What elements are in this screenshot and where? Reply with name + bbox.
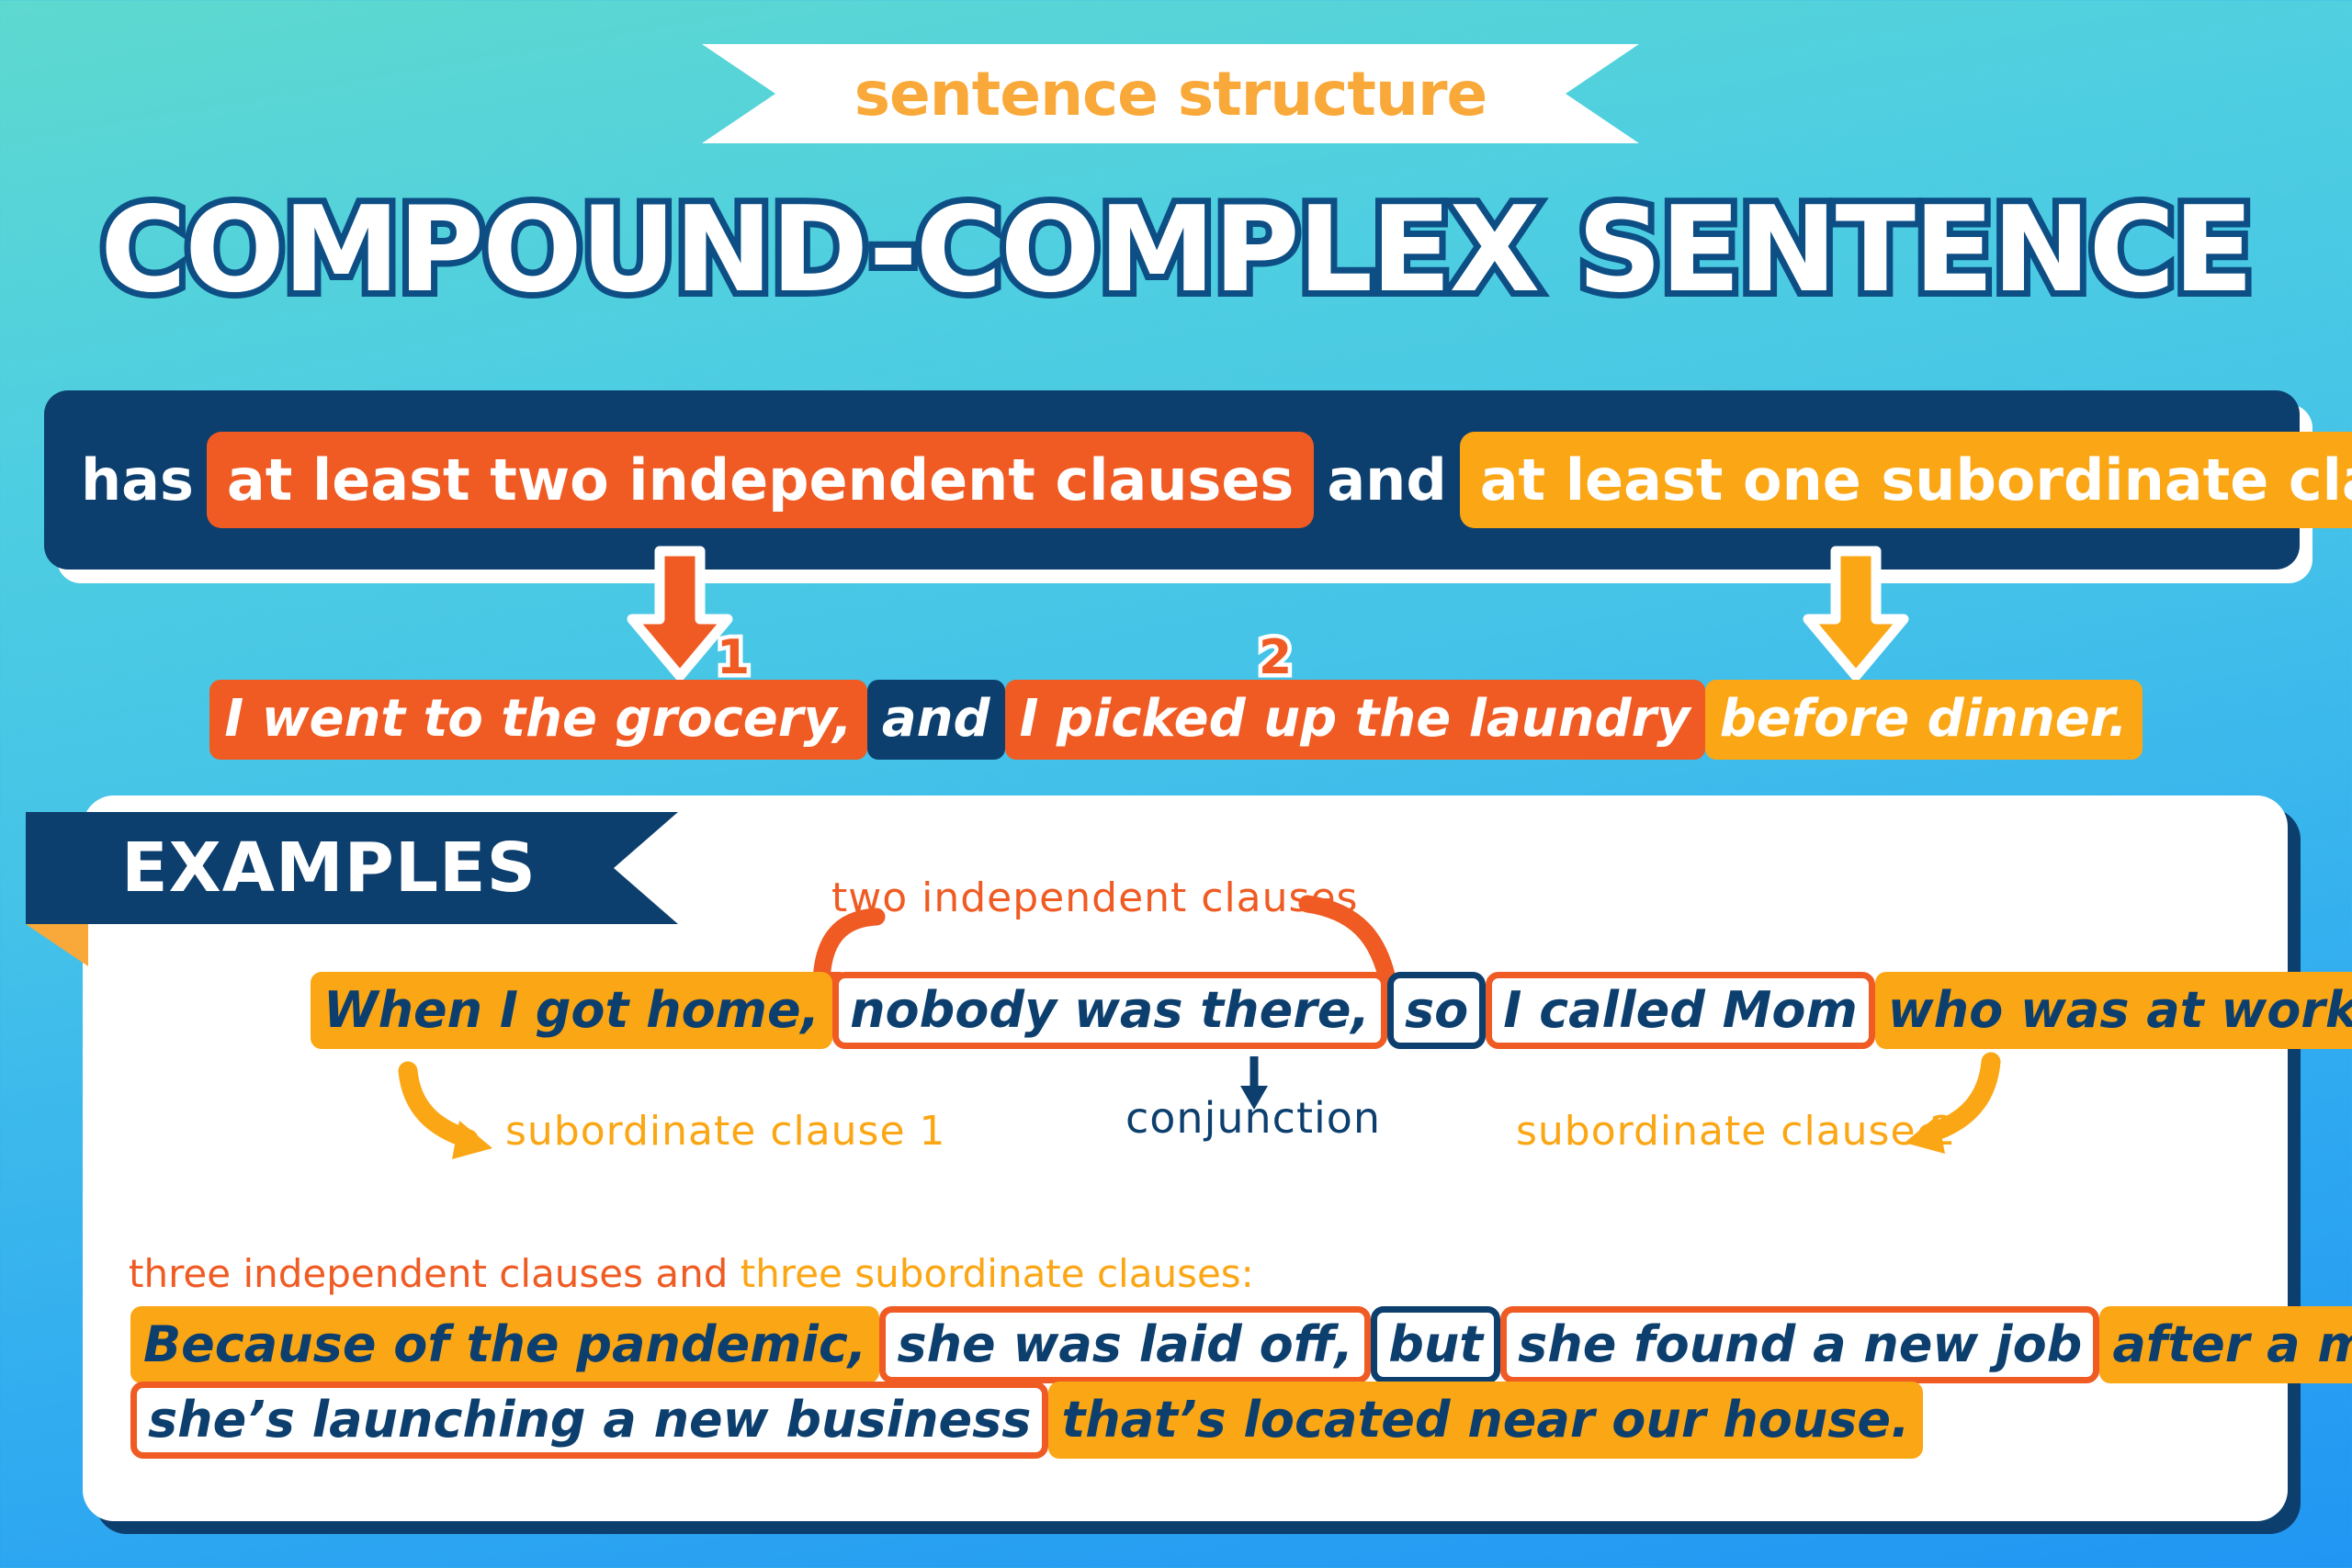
example-2-heading: three independent clauses and three subo… <box>129 1251 1254 1296</box>
ribbon-label: sentence structure <box>702 44 1639 143</box>
arrow-curve-down-right-amber <box>1888 1056 2007 1167</box>
diagram-chip-2: I picked up the laundry <box>1005 680 1705 760</box>
ex2l1-chip-3: she found a new job <box>1500 1306 2099 1383</box>
heading-three-subordinate: three subordinate clauses: <box>741 1251 1254 1296</box>
example-2-line-1: Because of the pandemic, she was laid of… <box>130 1306 2352 1383</box>
label-subordinate-clause-1: subordinate clause 1 <box>505 1108 946 1155</box>
definition-lead: has <box>68 446 207 513</box>
ex1-chip-2: so <box>1387 972 1486 1049</box>
page-title: COMPOUND-COMPLEX SENTENCE <box>0 182 2352 319</box>
diagram-chip-3: before dinner. <box>1705 680 2143 760</box>
ex2l1-chip-4: after a month, <box>2099 1306 2352 1383</box>
diagram-chip-0: I went to the grocery, <box>209 680 866 760</box>
arrow-curve-down-left-amber <box>395 1064 505 1174</box>
definition-chip-independent: at least two independent clauses <box>207 432 1314 528</box>
arrow-down-subordinate <box>1782 551 1929 680</box>
ex2l1-chip-1: she was laid off, <box>879 1306 1371 1383</box>
heading-three-independent: three independent clauses <box>129 1251 643 1296</box>
examples-tab-label: EXAMPLES <box>26 812 632 924</box>
definition-chip-subordinate: at least one subordinate clause. <box>1460 432 2352 528</box>
ex2l2-chip-1: that’s located near our house. <box>1048 1382 1922 1459</box>
ex1-chip-1: nobody was there, <box>832 972 1387 1049</box>
annotation-two-independent-clauses: two independent clauses <box>831 874 1358 921</box>
examples-tab-fold <box>26 924 88 966</box>
ex2l1-chip-2: but <box>1371 1306 1500 1383</box>
heading-and: and <box>655 1251 740 1296</box>
ex2l2-chip-0: she’s launching a new business <box>130 1382 1048 1459</box>
marker-number-2: 2 <box>1259 630 1292 685</box>
definition-connector: and <box>1314 446 1459 513</box>
ex1-chip-3: I called Mom <box>1486 972 1875 1049</box>
diagram-chip-1: and <box>867 680 1005 760</box>
label-conjunction: conjunction <box>1125 1093 1381 1143</box>
ex2l1-chip-0: Because of the pandemic, <box>130 1306 879 1383</box>
example-2-line-2: she’s launching a new business that’s lo… <box>130 1382 1923 1459</box>
marker-number-1: 1 <box>717 630 750 685</box>
diagram-sentence: I went to the grocery, and I picked up t… <box>0 680 2352 760</box>
ex1-chip-4: who was at work. <box>1875 972 2352 1049</box>
ex1-chip-0: When I got home, <box>311 972 832 1049</box>
infographic-canvas: sentence structure COMPOUND-COMPLEX SENT… <box>0 0 2352 1568</box>
definition-bar: has at least two independent clauses and… <box>44 390 2300 570</box>
example-1-sentence: When I got home, nobody was there, so I … <box>311 972 2352 1049</box>
